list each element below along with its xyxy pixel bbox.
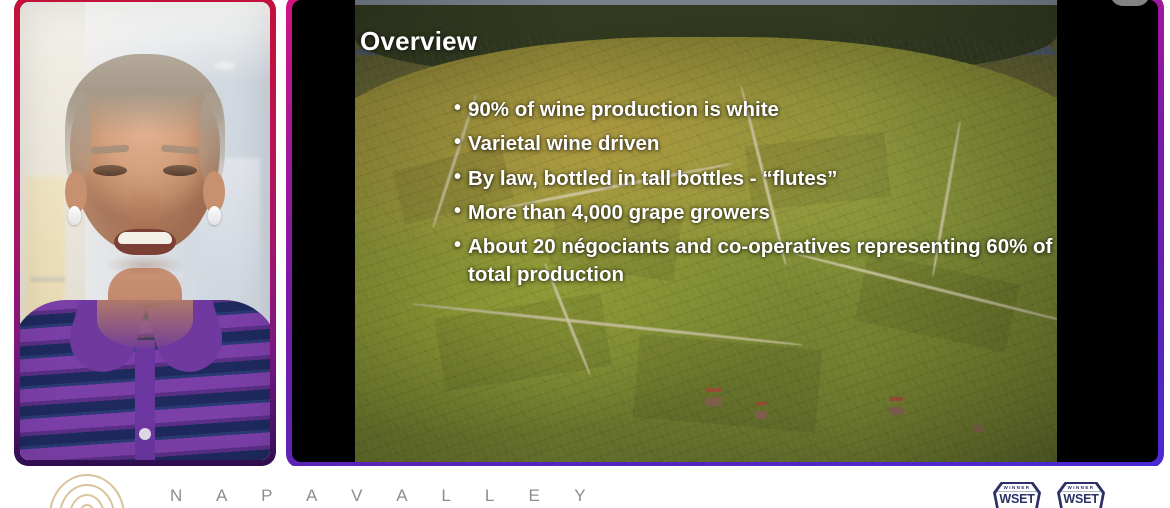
presenter-chin-shadow <box>105 254 185 276</box>
polo-placket <box>135 340 155 460</box>
presenter-nose <box>130 185 160 231</box>
badge-name-label: WSET <box>1054 492 1108 506</box>
earbud-icon-left <box>68 206 81 225</box>
slide-title: Overview <box>360 26 477 57</box>
wset-winner-badge: WINNER WSET <box>1054 478 1108 508</box>
napa-valley-wordmark: N A P A V A L L E Y <box>170 486 601 506</box>
polo-button <box>139 428 151 440</box>
earbud-icon-right <box>208 206 221 225</box>
presentation-slide[interactable]: Overview 90% of wine production is white… <box>292 0 1158 462</box>
badge-winner-label: WINNER <box>990 485 1044 490</box>
screenshare-tile[interactable]: Overview 90% of wine production is white… <box>286 0 1164 468</box>
slide-bullet-item: More than 4,000 grape growers <box>454 199 1094 227</box>
presenter-eye-right <box>163 165 197 176</box>
presenter-striped-polo <box>20 300 270 460</box>
napa-valley-arc-logo-icon <box>44 468 130 508</box>
slide-text-layer: Overview 90% of wine production is white… <box>292 0 1158 462</box>
badge-name-label: WSET <box>990 492 1044 506</box>
webinar-screen: Overview 90% of wine production is white… <box>0 0 1170 508</box>
slide-bullet-item: About 20 négociants and co-operatives re… <box>454 233 1094 290</box>
award-badge-group: WINNER WSET WINNER WSET <box>990 478 1108 508</box>
badge-winner-label: WINNER <box>1054 485 1108 490</box>
presenter-eye-left <box>93 165 127 176</box>
wset-winner-badge: WINNER WSET <box>990 478 1044 508</box>
participant-video-tile[interactable] <box>14 0 276 466</box>
presenter-teeth <box>118 232 172 244</box>
slide-bullet-list: 90% of wine production is white Varietal… <box>454 96 1094 296</box>
slide-bullet-item: Varietal wine driven <box>454 130 1094 158</box>
slide-bullet-item: By law, bottled in tall bottles - “flute… <box>454 165 1094 193</box>
slide-bullet-item: 90% of wine production is white <box>454 96 1094 124</box>
participant-video-feed[interactable] <box>20 2 270 460</box>
presenter-mouth <box>114 229 176 255</box>
presenter-figure <box>20 2 270 460</box>
